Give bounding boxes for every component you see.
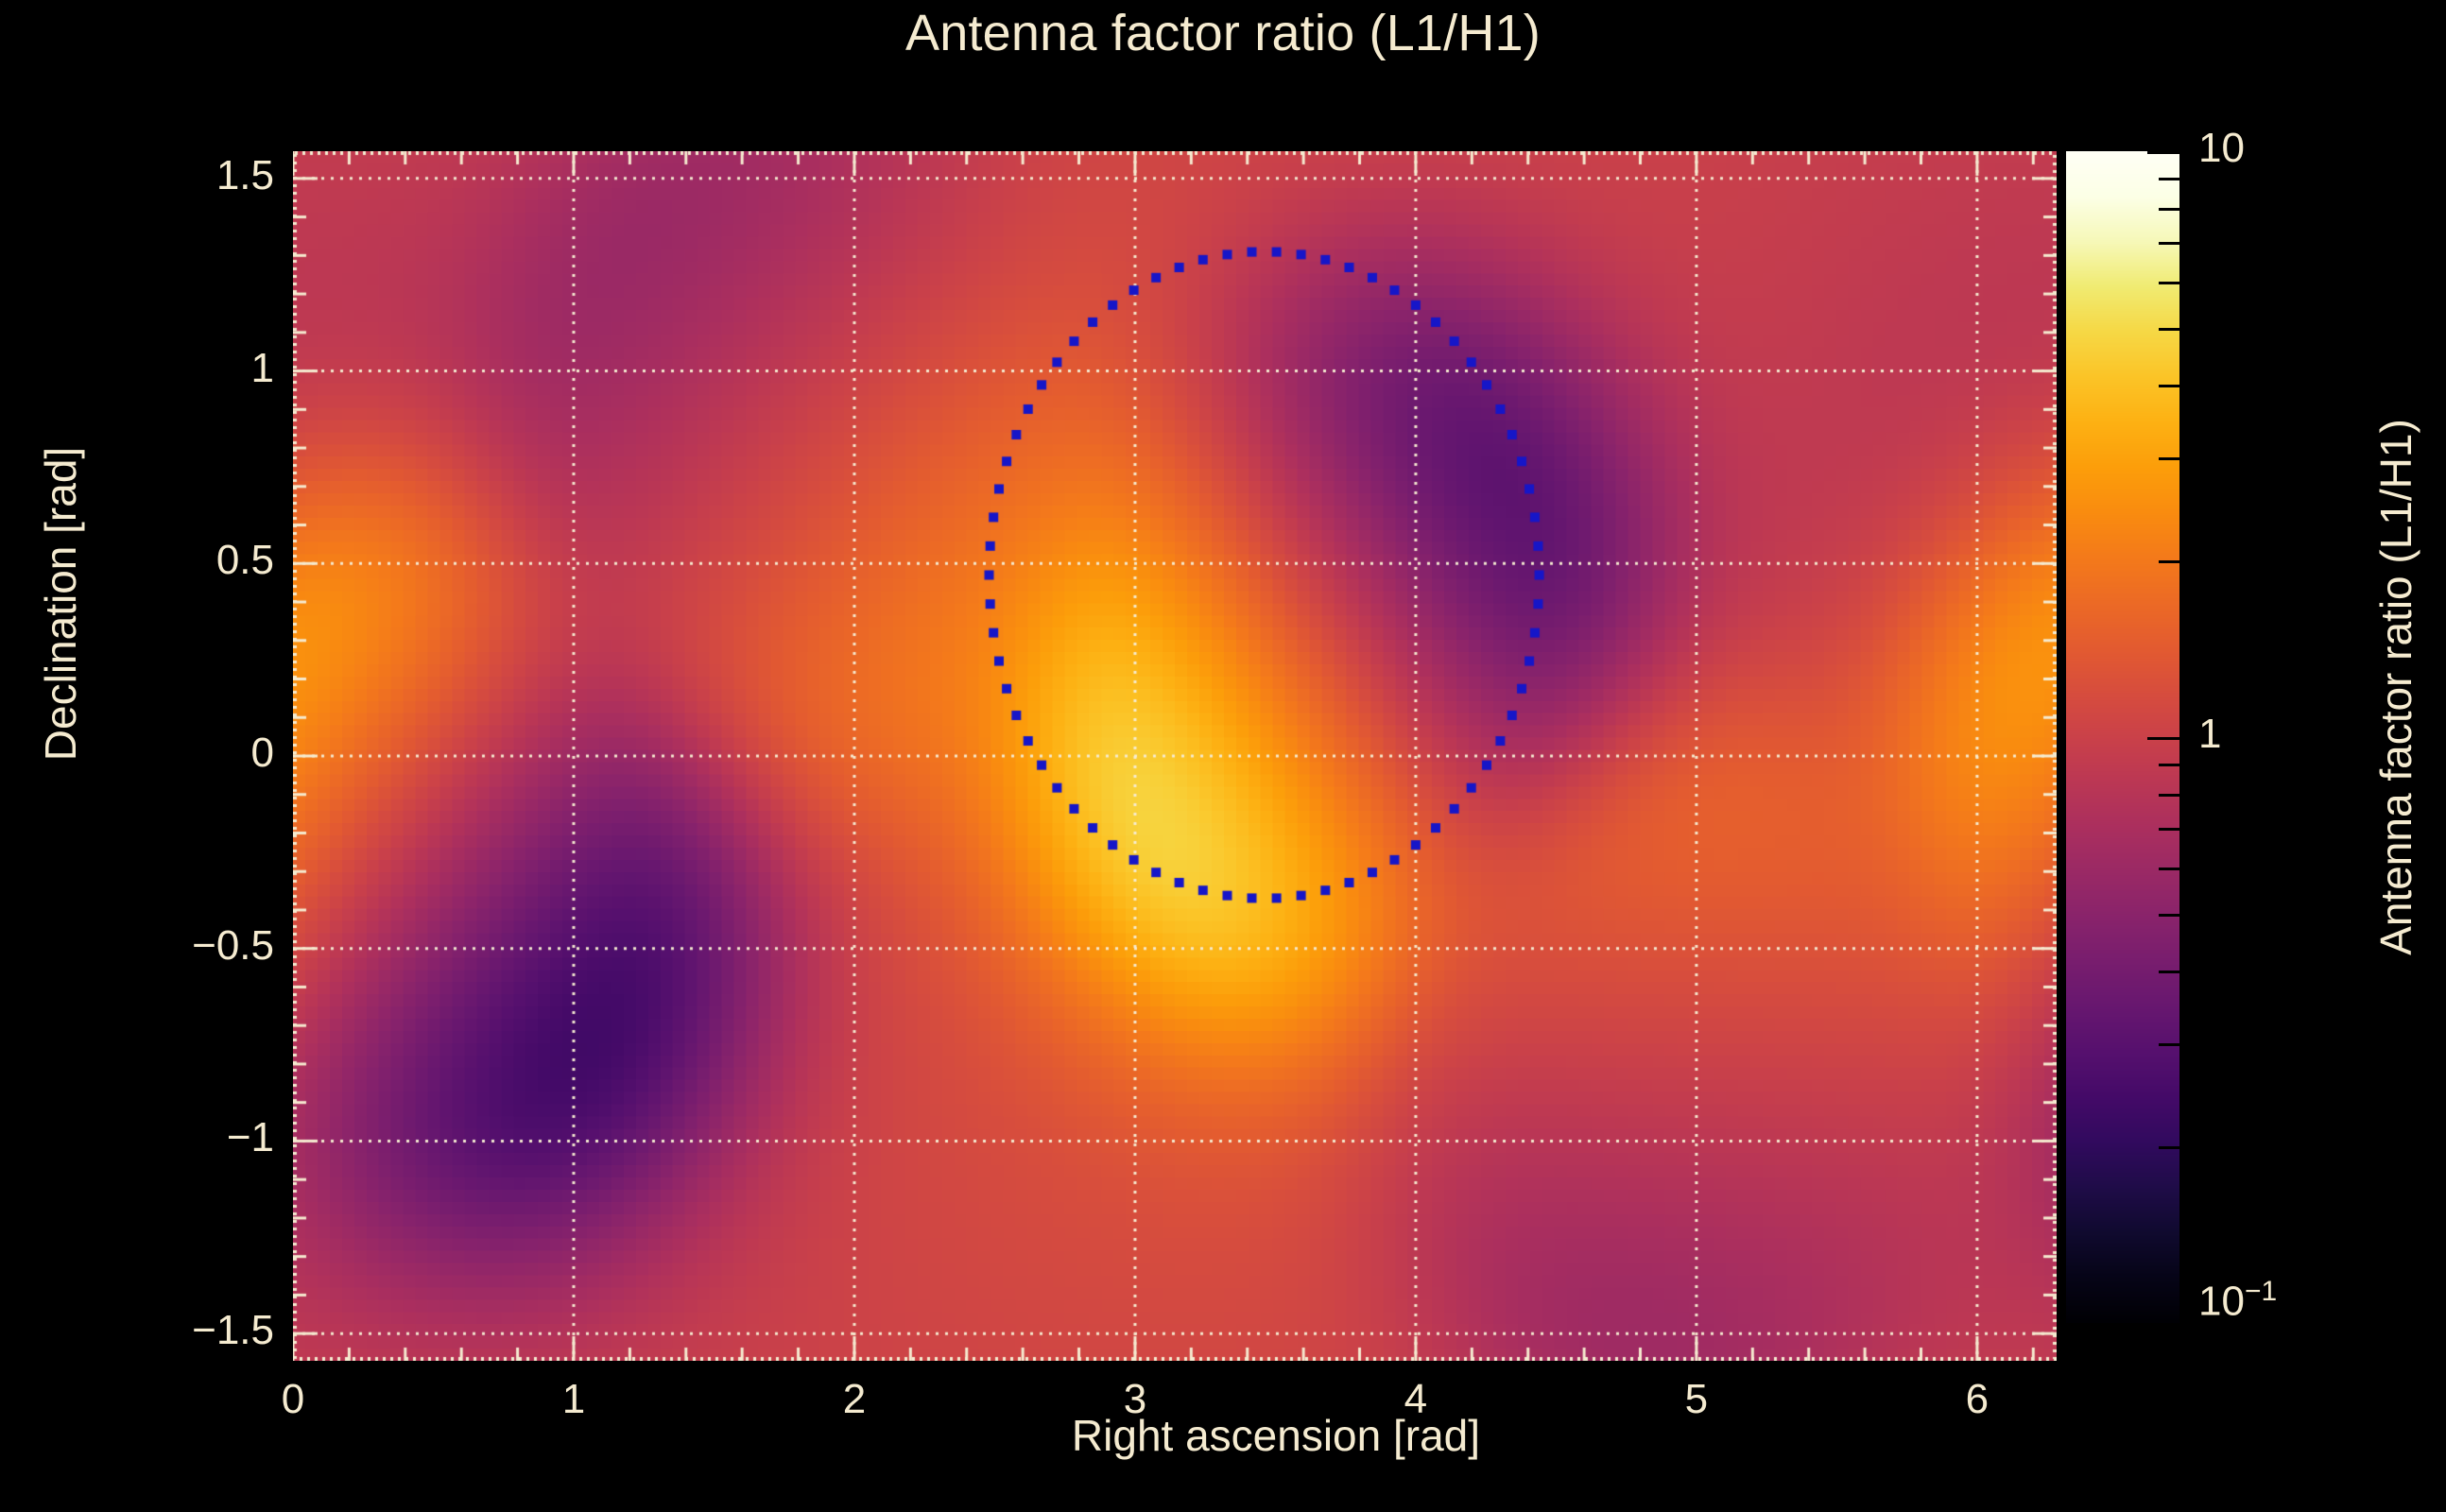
colorbar-minor-tick <box>2159 178 2179 180</box>
x-axis-tick: 0 <box>236 1376 350 1423</box>
colorbar-minor-tick <box>2159 560 2179 563</box>
colorbar-label: Antenna factor ratio (L1/H1) <box>2370 309 2421 1065</box>
colorbar-minor-tick <box>2159 794 2179 797</box>
colorbar-minor-tick <box>2159 971 2179 973</box>
colorbar-minor-tick <box>2159 385 2179 387</box>
grid-and-contour-overlay <box>293 151 2057 1361</box>
x-axis-tick: 2 <box>798 1376 911 1423</box>
colorbar-major-tick <box>2147 151 2179 154</box>
x-axis-tick: 5 <box>1640 1376 1753 1423</box>
colorbar-minor-tick <box>2159 764 2179 766</box>
y-axis-tick: −1.5 <box>113 1307 274 1354</box>
colorbar-minor-tick <box>2159 914 2179 917</box>
y-axis-tick: 0 <box>113 730 274 777</box>
colorbar-minor-tick <box>2159 1146 2179 1149</box>
y-axis-label: Declination [rad] <box>35 311 86 897</box>
colorbar-minor-tick <box>2159 868 2179 870</box>
colorbar-minor-tick <box>2159 208 2179 211</box>
y-axis-tick: 1.5 <box>113 152 274 199</box>
colorbar-tick-label: 1 <box>2198 711 2221 758</box>
colorbar-minor-tick <box>2159 282 2179 284</box>
x-axis-tick: 6 <box>1921 1376 2034 1423</box>
y-axis-tick: 1 <box>113 345 274 392</box>
page-title: Antenna factor ratio (L1/H1) <box>0 4 2446 62</box>
heatmap-plot-area <box>293 151 2057 1361</box>
colorbar <box>2066 151 2179 1323</box>
colorbar-minor-tick <box>2159 242 2179 245</box>
colorbar-major-tick <box>2147 1323 2179 1326</box>
y-axis-tick: −0.5 <box>113 922 274 970</box>
x-axis-tick: 1 <box>517 1376 630 1423</box>
colorbar-tick-label: 10 <box>2198 125 2245 172</box>
colorbar-major-tick <box>2147 737 2179 740</box>
colorbar-minor-tick <box>2159 328 2179 331</box>
y-axis-tick: 0.5 <box>113 537 274 584</box>
y-axis-tick: −1 <box>113 1114 274 1161</box>
figure-canvas: Antenna factor ratio (L1/H1) 1.510.50−0.… <box>0 0 2446 1512</box>
colorbar-minor-tick <box>2159 1043 2179 1046</box>
x-axis-label: Right ascension [rad] <box>945 1410 1607 1461</box>
colorbar-tick-label: 10−1 <box>2198 1276 2277 1326</box>
colorbar-minor-tick <box>2159 828 2179 831</box>
colorbar-minor-tick <box>2159 457 2179 460</box>
